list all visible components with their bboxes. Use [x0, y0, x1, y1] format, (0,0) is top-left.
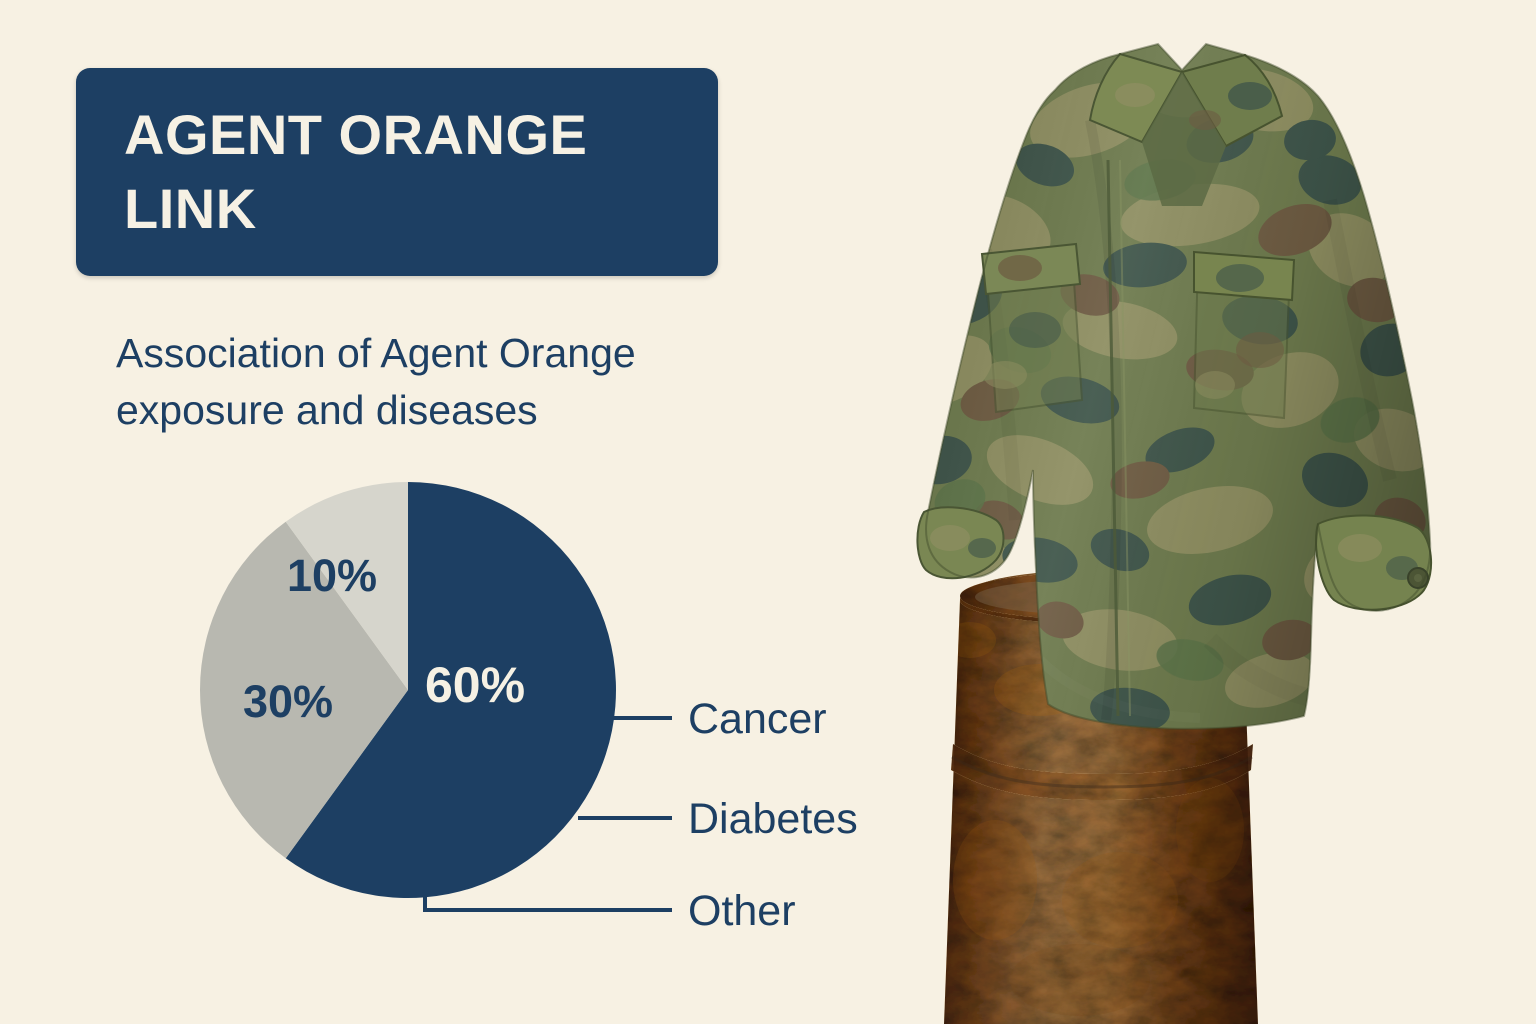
legend-label-other: Other — [688, 887, 796, 935]
pie-value-label-diabetes: 30% — [243, 676, 333, 727]
pie-value-label-cancer: 60% — [425, 657, 525, 713]
title-banner: AGENT ORANGE LINK — [76, 68, 718, 276]
leader-line-other — [425, 896, 672, 910]
pie-value-label-other: 10% — [287, 550, 377, 601]
page-title: AGENT ORANGE LINK — [124, 98, 684, 246]
photo-illustration — [790, 0, 1536, 1024]
infographic-canvas: AGENT ORANGE LINK Association of Agent O… — [0, 0, 1536, 1024]
jacket-pocket-right — [1194, 252, 1294, 418]
photo-jacket-on-barrel — [790, 0, 1536, 1024]
jacket-pocket-left — [982, 244, 1082, 412]
subtitle-text: Association of Agent Orange exposure and… — [116, 325, 756, 438]
